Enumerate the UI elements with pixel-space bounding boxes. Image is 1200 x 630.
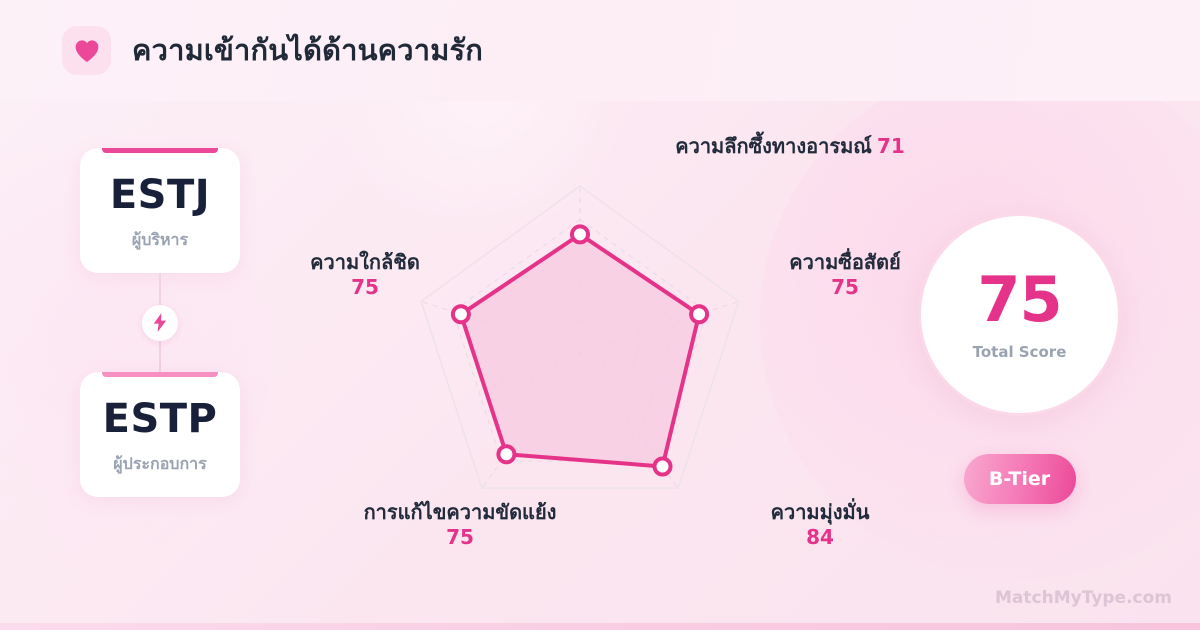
radar-label-text: ความซื่อสัตย์ [789,250,901,274]
radar-label-0: ความลึกซึ้งทางอารมณ์ 71 [580,134,1000,159]
total-score-value: 75 [977,269,1061,331]
radar-label-text: ความใกล้ชิด [310,250,420,274]
total-score-circle: 75 Total Score [918,213,1121,416]
radar-label-value: 71 [877,134,905,158]
radar-label-3: การแก้ไขความขัดแย้ง75 [310,500,610,550]
radar-label-value: 84 [806,525,834,549]
radar-label-2: ความมุ่งมั่น84 [700,500,940,550]
radar-label-value: 75 [831,275,859,299]
page-title: ความเข้ากันได้ด้านความรัก [132,33,483,68]
compatibility-card: ความเข้ากันได้ด้านความรัก ESTJ ผู้บริหาร… [0,0,1200,630]
score-panel: 75 Total Score B-Tier [918,213,1121,504]
radar-label-text: ความมุ่งมั่น [771,500,870,524]
heart-icon [62,26,111,75]
radar-label-text: การแก้ไขความขัดแย้ง [364,500,557,524]
type-card-first[interactable]: ESTJ ผู้บริหาร [80,148,240,273]
type-code-second: ESTP [90,398,230,440]
total-score-label: Total Score [973,343,1067,361]
radar-point-4 [453,306,469,322]
radar-point-2 [655,459,671,475]
type-connector [80,273,240,372]
watermark: MatchMyType.com [995,588,1172,608]
radar-label-4: ความใกล้ชิด75 [245,250,485,300]
type-accent-bar-second [102,372,218,377]
type-accent-bar-first [102,148,218,153]
radar-data-area [461,234,699,466]
radar-chart: ความลึกซึ้งทางอารมณ์ 71ความซื่อสัตย์75คว… [300,110,860,610]
lightning-bolt-icon [142,305,178,341]
type-code-first: ESTJ [90,174,230,216]
type-pair: ESTJ ผู้บริหาร ESTP ผู้ประกอบการ [80,148,240,497]
radar-point-3 [498,446,514,462]
type-nickname-second: ผู้ประกอบการ [90,452,230,477]
type-card-second[interactable]: ESTP ผู้ประกอบการ [80,372,240,497]
radar-label-value: 75 [446,525,474,549]
radar-label-value: 75 [351,275,379,299]
tier-badge: B-Tier [964,454,1076,504]
header-bar: ความเข้ากันได้ด้านความรัก [0,0,1200,101]
bottom-accent-bar [0,623,1200,630]
radar-label-text: ความลึกซึ้งทางอารมณ์ [675,134,872,158]
type-nickname-first: ผู้บริหาร [90,228,230,253]
radar-point-1 [691,306,707,322]
radar-point-0 [572,226,588,242]
